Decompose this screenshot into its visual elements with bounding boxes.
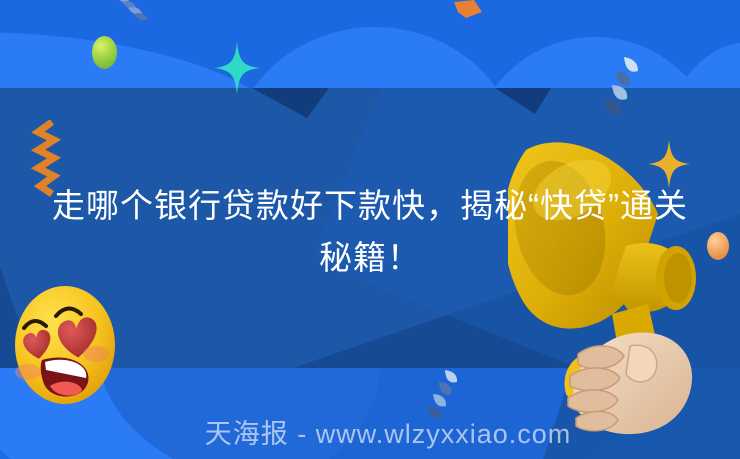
page-title: 走哪个银行贷款好下款快，揭秘“快贷”通关秘籍！ bbox=[0, 180, 740, 284]
green-sphere-icon bbox=[92, 36, 117, 69]
wave-shadow-triangle bbox=[495, 88, 551, 114]
blue-spiral-ribbon-right-icon bbox=[600, 55, 642, 125]
orange-confetti-icon bbox=[452, 0, 482, 22]
wave-hill bbox=[230, 27, 520, 92]
blue-spiral-ribbon-top-icon bbox=[112, 0, 152, 28]
wave-shadow-triangle bbox=[252, 88, 329, 118]
poster-banner: 走哪个银行贷款好下款快，揭秘“快贷”通关秘籍！ 天海报 - www.wlzyxx… bbox=[0, 0, 740, 459]
cyan-sparkle-star-icon bbox=[214, 42, 260, 94]
watermark-text: 天海报 - www.wlzyxxiao.com bbox=[0, 412, 740, 451]
heart-eyes-emoji-icon bbox=[12, 284, 118, 406]
